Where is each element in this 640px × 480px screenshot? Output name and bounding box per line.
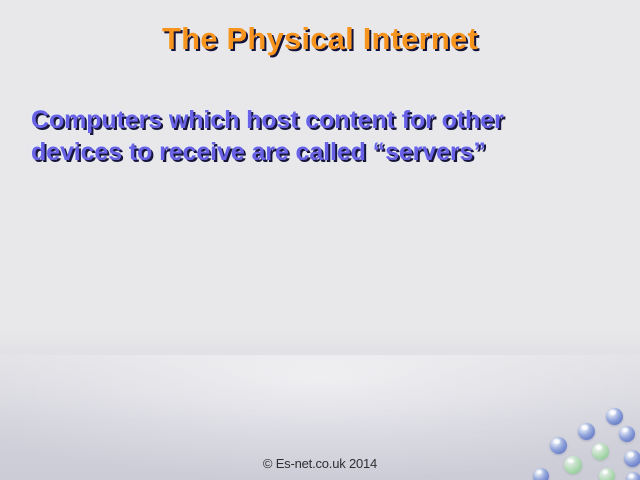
- presentation-slide: The Physical Internet Computers which ho…: [0, 0, 640, 480]
- slide-title: The Physical Internet: [0, 21, 640, 57]
- slide-footer-copyright: © Es-net.co.uk 2014: [0, 456, 640, 471]
- body-line: devices to receive are called “servers”: [31, 136, 591, 168]
- slide-body-text: Computers which host content for other d…: [31, 104, 591, 168]
- body-line: Computers which host content for other: [31, 104, 591, 136]
